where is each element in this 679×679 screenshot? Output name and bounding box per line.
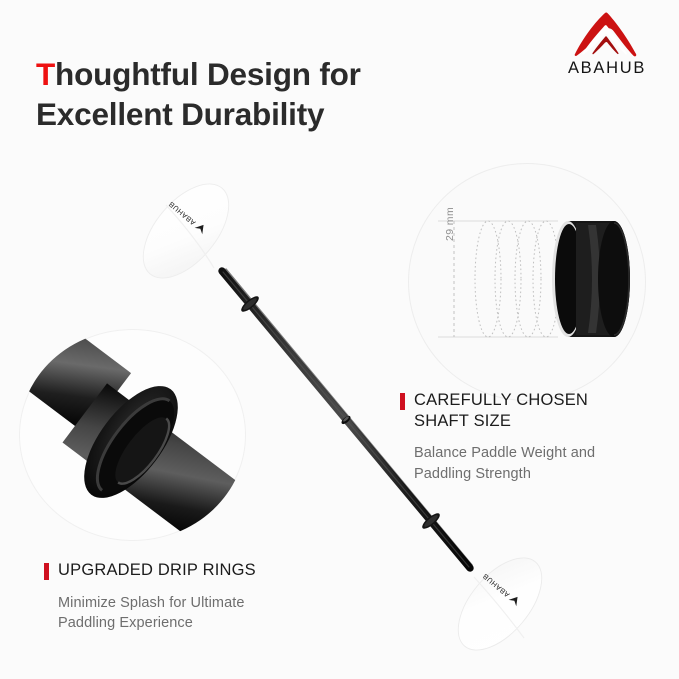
shaft-diameter-diagram [408,163,646,401]
callout-shaft-title-line2: SHAFT SIZE [414,412,511,430]
callout-shaft-subtitle-line2: Paddling Strength [414,466,531,482]
accent-bar-icon [44,563,49,580]
callout-shaft-size: CAREFULLY CHOSEN SHAFT SIZE Balance Padd… [400,390,672,484]
callout-shaft-title-line1: CAREFULLY CHOSEN [414,391,588,409]
drip-ring-inset [19,329,246,541]
callout-drip-subtitle: Minimize Splash for Ultimate Paddling Ex… [58,593,344,634]
callout-drip-title: UPGRADED DRIP RINGS [58,560,256,581]
callout-shaft-subtitle: Balance Paddle Weight and Paddling Stren… [414,443,672,484]
callout-drip-subtitle-line2: Paddling Experience [58,615,193,631]
callout-drip-rings: UPGRADED DRIP RINGS Minimize Splash for … [44,560,344,634]
callout-shaft-title: CAREFULLY CHOSEN SHAFT SIZE [414,390,588,432]
callout-shaft-heading: CAREFULLY CHOSEN SHAFT SIZE [400,390,672,432]
infographic-page: ABAHUB Thoughtful Design for Excellent D… [0,0,679,679]
callout-drip-subtitle-line1: Minimize Splash for Ultimate [58,595,245,611]
callout-shaft-subtitle-line1: Balance Paddle Weight and [414,445,595,461]
shaft-tube-render [552,221,630,337]
accent-bar-icon [400,393,405,410]
shaft-measurement-label: 29 mm [444,207,456,241]
shaft-diameter-inset: 29 mm [408,163,646,401]
callout-drip-heading: UPGRADED DRIP RINGS [44,560,344,581]
paddle-blade-lower: ABAHUB [442,543,557,665]
drip-ring-closeup [19,329,246,541]
